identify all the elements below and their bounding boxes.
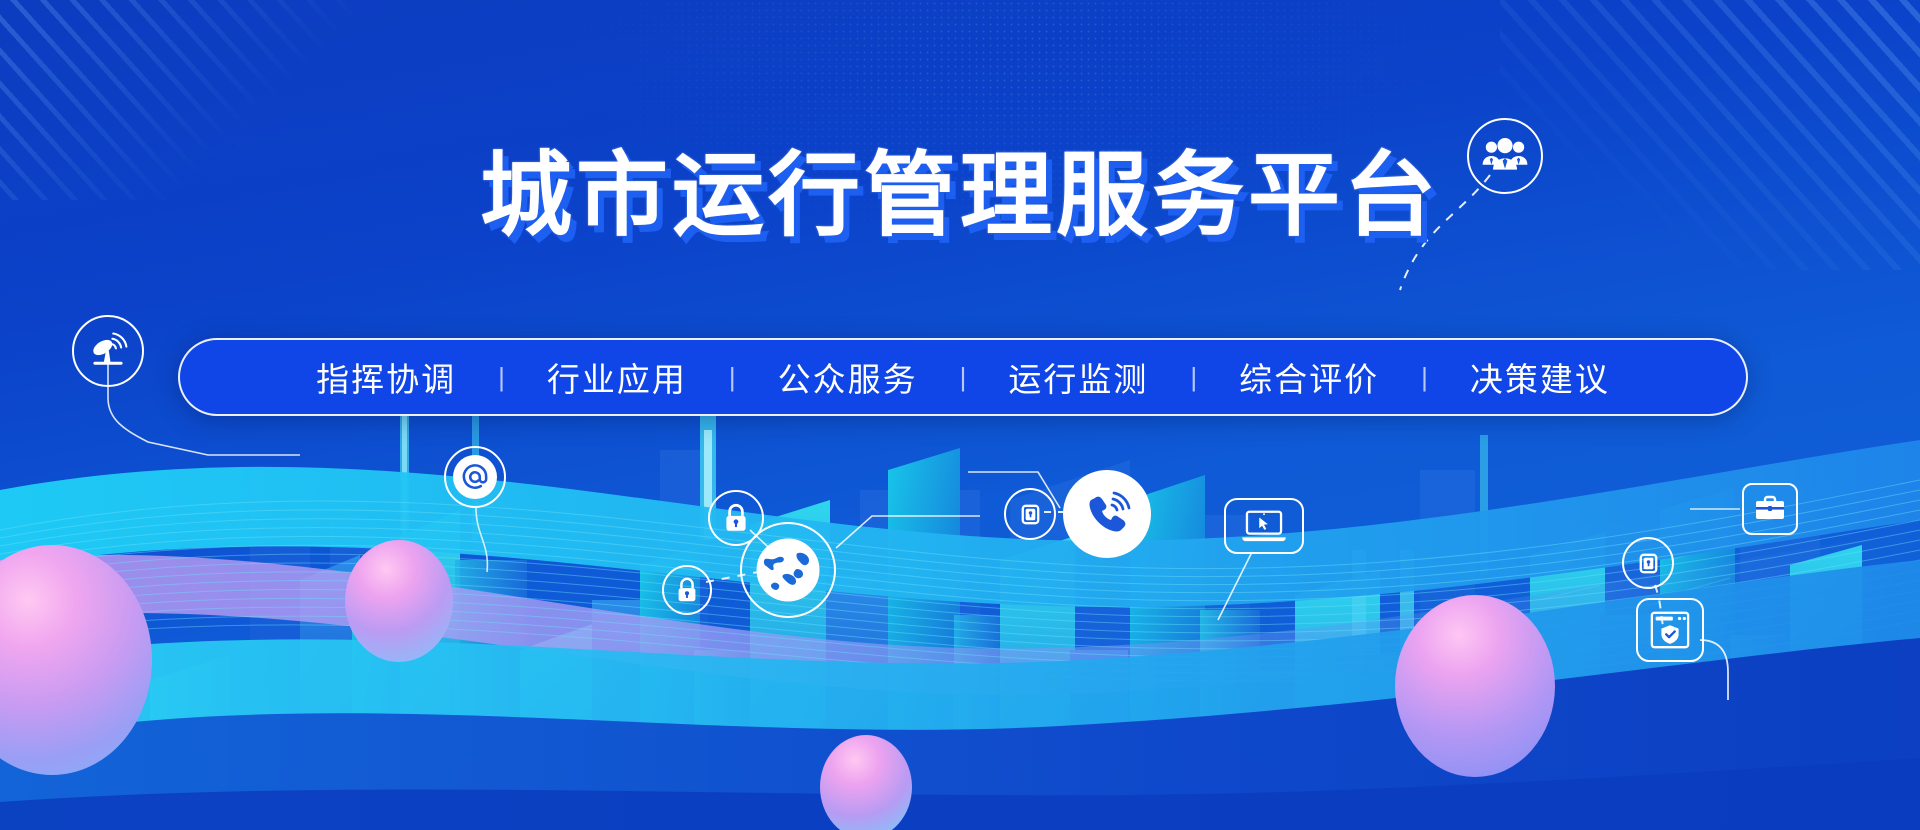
nav-item-1[interactable]: 行业应用 (505, 353, 729, 401)
banner-root: 城市运行管理服务平台 指挥协调|行业应用|公众服务|运行监测|综合评价|决策建议 (0, 0, 1920, 830)
nav-item-4[interactable]: 综合评价 (1197, 353, 1421, 401)
page-title: 城市运行管理服务平台 (480, 150, 1440, 242)
lock-icon[interactable] (1004, 488, 1056, 540)
lock-icon[interactable] (1622, 537, 1674, 589)
nav-item-2[interactable]: 公众服务 (736, 353, 960, 401)
nav-item-0[interactable]: 指挥协调 (274, 353, 498, 401)
primary-nav[interactable]: 指挥协调|行业应用|公众服务|运行监测|综合评价|决策建议 (178, 338, 1748, 416)
node-phone-signal[interactable] (1063, 470, 1151, 558)
browser-shield-icon[interactable] (1636, 598, 1704, 662)
satellite-dish-icon[interactable] (72, 315, 144, 387)
node-lock-phone[interactable] (1004, 488, 1056, 540)
nav-item-3[interactable]: 运行监测 (966, 353, 1190, 401)
city-skyline (0, 350, 1920, 830)
node-at-sign[interactable] (444, 446, 506, 508)
node-briefcase[interactable] (1742, 483, 1798, 535)
node-laptop[interactable] (1224, 498, 1304, 554)
globe-icon[interactable] (740, 522, 836, 618)
nav-item-5[interactable]: 决策建议 (1428, 353, 1652, 401)
node-satellite-dish[interactable] (72, 315, 144, 387)
page-title-wrap: 城市运行管理服务平台 (0, 150, 1920, 242)
nav-separator: | (729, 362, 736, 393)
node-globe[interactable] (740, 522, 836, 618)
phone-signal-icon[interactable] (1063, 470, 1151, 558)
nav-separator: | (498, 362, 505, 393)
node-lock-right[interactable] (1622, 537, 1674, 589)
node-lock-lower-left[interactable] (662, 565, 712, 615)
nav-separator: | (1190, 362, 1197, 393)
at-sign-icon[interactable] (444, 446, 506, 508)
nav-separator: | (1421, 362, 1428, 393)
laptop-cursor-icon[interactable] (1224, 498, 1304, 554)
node-browser-shield[interactable] (1636, 598, 1704, 662)
nav-separator: | (960, 362, 967, 393)
lock-icon[interactable] (662, 565, 712, 615)
briefcase-icon[interactable] (1742, 483, 1798, 535)
